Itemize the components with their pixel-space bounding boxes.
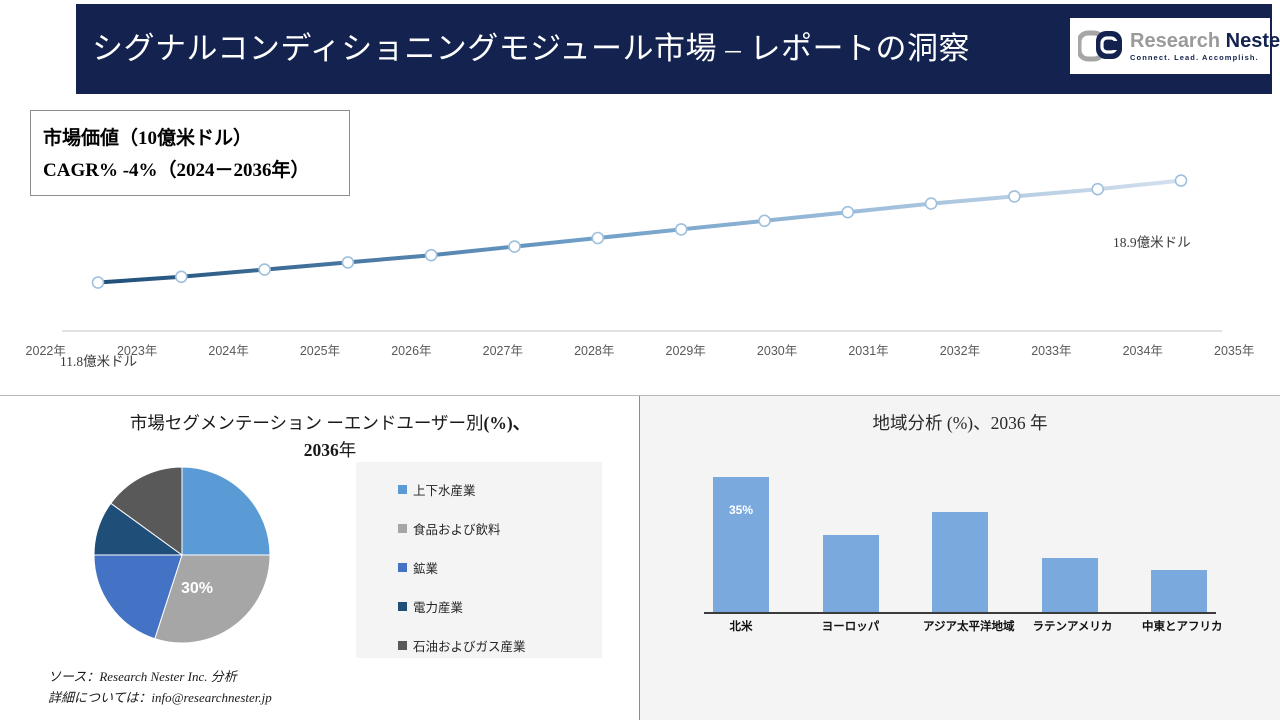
legend-item-label: 石油およびガス産業 bbox=[413, 636, 526, 655]
year-tick-label: 2022年 bbox=[0, 340, 91, 359]
trend-marker bbox=[759, 215, 770, 226]
legend-swatch-icon bbox=[398, 641, 407, 650]
region-bar[interactable] bbox=[1151, 570, 1207, 612]
logo-name-nester: Nester bbox=[1226, 30, 1280, 52]
logo-name-research: Research bbox=[1130, 30, 1220, 52]
source-note: ソース：Research Nester Inc. 分析 詳細については：info… bbox=[48, 666, 272, 708]
region-tick-label: 中東とアフリカ bbox=[1142, 618, 1216, 634]
year-tick-label: 2033年 bbox=[1006, 340, 1097, 359]
year-tick-label: 2032年 bbox=[914, 340, 1005, 359]
legend-item-label: 食品および飲料 bbox=[413, 519, 501, 538]
logo-text: Research Nester Connect. Lead. Accomplis… bbox=[1130, 31, 1280, 62]
market-value-line-chart: 11.8億米ドル 18.9億米ドル 2022年2023年2024年2025年20… bbox=[0, 100, 1280, 395]
line-chart-svg bbox=[0, 100, 1280, 340]
year-tick-label: 2029年 bbox=[640, 340, 731, 359]
legend-item[interactable]: 食品および飲料 bbox=[356, 509, 602, 548]
bar-slot bbox=[923, 458, 997, 612]
research-nester-logo: Research Nester Connect. Lead. Accomplis… bbox=[1070, 18, 1270, 74]
legend-swatch-icon bbox=[398, 602, 407, 611]
region-tick-label: アジア太平洋地域 bbox=[923, 618, 997, 634]
legend-item[interactable]: 上下水産業 bbox=[356, 470, 602, 509]
trend-marker bbox=[93, 277, 104, 288]
pie-slice bbox=[182, 467, 270, 555]
legend-swatch-icon bbox=[398, 485, 407, 494]
trend-marker bbox=[176, 271, 187, 282]
trend-marker bbox=[1092, 184, 1103, 195]
trend-marker bbox=[926, 198, 937, 209]
trend-marker bbox=[342, 257, 353, 268]
header-banner: シグナルコンディショニングモジュール市場 – レポートの洞察 Research … bbox=[76, 4, 1272, 94]
legend-item-label: 上下水産業 bbox=[413, 480, 476, 499]
regional-analysis-title: 地域分析 (%)、2036 年 bbox=[640, 410, 1280, 435]
legend-swatch-icon bbox=[398, 563, 407, 572]
segmentation-pie-chart bbox=[93, 466, 271, 644]
source-line-1: ソース：Research Nester Inc. 分析 bbox=[48, 666, 272, 687]
trend-marker bbox=[592, 233, 603, 244]
pie-data-label: 30% bbox=[181, 580, 213, 598]
regional-bar-chart: 35% bbox=[704, 458, 1216, 612]
year-tick-label: 2035年 bbox=[1188, 340, 1279, 359]
bar-data-label: 35% bbox=[713, 503, 769, 517]
bar-chart-baseline bbox=[704, 612, 1216, 614]
segmentation-panel: 市場セグメンテーション ーエンドユーザー別(%)、 2036年 30% 上下水産… bbox=[0, 396, 639, 720]
trend-marker bbox=[1176, 175, 1187, 186]
region-bar[interactable]: 35% bbox=[713, 477, 769, 612]
trend-marker bbox=[842, 207, 853, 218]
source-line-2: 詳細については：info@researchnester.jp bbox=[48, 687, 272, 708]
logo-name: Research Nester bbox=[1130, 31, 1280, 51]
trend-marker bbox=[426, 250, 437, 261]
year-tick-label: 2025年 bbox=[274, 340, 365, 359]
pie-legend: 上下水産業食品および飲料鉱業電力産業石油およびガス産業 bbox=[356, 462, 602, 658]
trend-marker bbox=[676, 224, 687, 235]
bar-slot bbox=[1033, 458, 1107, 612]
end-value-label: 18.9億米ドル bbox=[1113, 231, 1191, 251]
year-tick-label: 2028年 bbox=[549, 340, 640, 359]
segmentation-title-year: 2036 bbox=[304, 440, 339, 460]
bar-slot bbox=[814, 458, 888, 612]
logo-tagline: Connect. Lead. Accomplish. bbox=[1130, 53, 1280, 62]
region-tick-label: 北米 bbox=[704, 618, 778, 634]
region-axis: 北米ヨーロッパアジア太平洋地域ラテンアメリカ中東とアフリカ bbox=[704, 618, 1216, 634]
legend-item-label: 電力産業 bbox=[413, 597, 463, 616]
legend-item[interactable]: 鉱業 bbox=[356, 548, 602, 587]
year-tick-label: 2023年 bbox=[91, 340, 182, 359]
year-tick-label: 2024年 bbox=[183, 340, 274, 359]
link-chain-icon bbox=[1078, 29, 1124, 63]
year-tick-label: 2027年 bbox=[457, 340, 548, 359]
regional-analysis-panel: 地域分析 (%)、2036 年 35% 北米ヨーロッパアジア太平洋地域ラテンアメ… bbox=[640, 396, 1280, 720]
region-bar[interactable] bbox=[1042, 558, 1098, 612]
page-title: シグナルコンディショニングモジュール市場 – レポートの洞察 bbox=[92, 20, 1092, 78]
year-tick-label: 2026年 bbox=[366, 340, 457, 359]
segmentation-title-main: 市場セグメンテーション ーエンドユーザー別 bbox=[130, 413, 484, 433]
segmentation-title: 市場セグメンテーション ーエンドユーザー別(%)、 2036年 bbox=[60, 410, 600, 464]
bar-slot bbox=[1142, 458, 1216, 612]
legend-item[interactable]: 石油およびガス産業 bbox=[356, 626, 602, 665]
region-bar[interactable] bbox=[932, 512, 988, 612]
legend-swatch-icon bbox=[398, 524, 407, 533]
pie-slices bbox=[94, 467, 270, 643]
region-tick-label: ヨーロッパ bbox=[814, 618, 888, 634]
segmentation-title-year-suffix: 年 bbox=[339, 440, 357, 460]
trend-marker bbox=[259, 264, 270, 275]
trend-marker bbox=[1009, 191, 1020, 202]
year-tick-label: 2034年 bbox=[1097, 340, 1188, 359]
legend-item-label: 鉱業 bbox=[413, 558, 438, 577]
segmentation-title-pct: (%)、 bbox=[484, 413, 531, 433]
bar-slot: 35% bbox=[704, 458, 778, 612]
year-tick-label: 2030年 bbox=[731, 340, 822, 359]
year-tick-label: 2031年 bbox=[823, 340, 914, 359]
region-tick-label: ラテンアメリカ bbox=[1033, 618, 1107, 634]
trend-marker bbox=[509, 241, 520, 252]
year-axis: 2022年2023年2024年2025年2026年2027年2028年2029年… bbox=[0, 340, 1280, 359]
legend-item[interactable]: 電力産業 bbox=[356, 587, 602, 626]
region-bar[interactable] bbox=[823, 535, 879, 612]
